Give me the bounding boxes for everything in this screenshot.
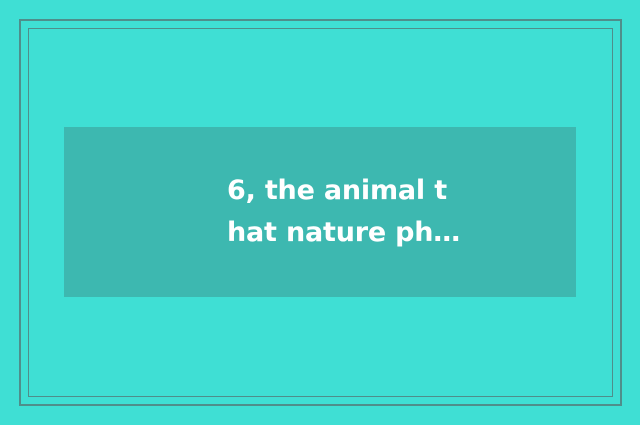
text-line-2: hat nature ph… [227, 212, 556, 254]
text-line-1: 6, the animal t [227, 170, 556, 212]
teal-text-card: 6, the animal t hat nature ph… [0, 0, 640, 425]
text-panel: 6, the animal t hat nature ph… [64, 127, 576, 297]
